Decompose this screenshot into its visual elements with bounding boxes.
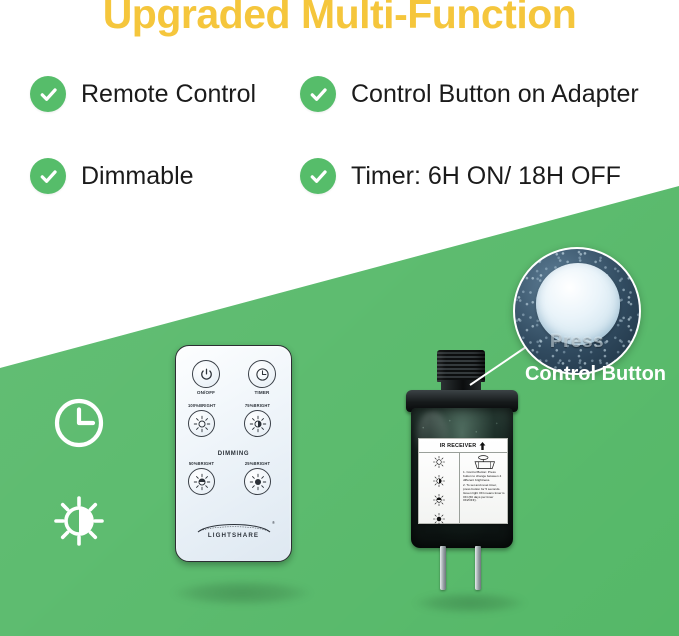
feature-list: Remote Control Control Button on Adapter… bbox=[0, 76, 679, 240]
feature-label: Timer: 6H ON/ 18H OFF bbox=[351, 164, 621, 189]
brightness-25-icon bbox=[432, 512, 446, 531]
infographic-canvas: Upgraded Multi-Function Remote Control C… bbox=[0, 0, 679, 636]
adapter-product: IR RECEIVER bbox=[398, 350, 528, 598]
feature-label: Remote Control bbox=[81, 82, 256, 107]
remote-shadow bbox=[172, 580, 312, 606]
ir-receiver-row: IR RECEIVER bbox=[419, 439, 507, 453]
brand-name: LIGHTSHARE bbox=[208, 532, 259, 539]
arrow-up-icon bbox=[479, 437, 486, 455]
registered-mark-icon: ® bbox=[272, 520, 275, 525]
remote-button-brightness-25[interactable]: 25%BRIGHT bbox=[244, 461, 271, 495]
remote-button-label: TIMER bbox=[254, 390, 269, 395]
control-button-callout: Press bbox=[513, 247, 641, 375]
remote-button-label: 50%BRIGHT bbox=[189, 461, 214, 466]
check-circle-icon bbox=[30, 158, 66, 194]
remote-control-product: ON/OFF TIMER 100%BRIGHT bbox=[175, 345, 292, 562]
magnifier-circle: Press bbox=[513, 247, 641, 375]
clock-icon bbox=[52, 396, 106, 450]
remote-button-label: 25%BRIGHT bbox=[245, 461, 270, 466]
check-circle-icon bbox=[300, 158, 336, 194]
remote-brand-logo: LIGHTSHARE ® bbox=[176, 521, 291, 539]
adapter-instruction-label: IR RECEIVER bbox=[418, 438, 508, 524]
brightness-100-icon bbox=[432, 455, 446, 474]
power-icon bbox=[192, 360, 220, 388]
adapter-plug-prongs bbox=[431, 546, 495, 592]
press-embossed-text: Press bbox=[515, 331, 639, 353]
feature-row: Dimmable Timer: 6H ON/ 18H OFF bbox=[0, 158, 679, 240]
remote-button-label: 75%BRIGHT bbox=[245, 403, 270, 408]
remote-button-label: ON/OFF bbox=[197, 390, 215, 395]
feature-label: Dimmable bbox=[81, 164, 194, 189]
brightness-50-icon bbox=[432, 493, 446, 512]
feature-item-control-button: Control Button on Adapter bbox=[300, 76, 639, 112]
check-circle-icon bbox=[300, 76, 336, 112]
prong-left bbox=[440, 546, 446, 590]
ir-receiver-label: IR RECEIVER bbox=[440, 443, 477, 449]
brightness-100-icon bbox=[188, 410, 215, 437]
remote-button-brightness-100[interactable]: 100%BRIGHT bbox=[188, 403, 216, 437]
feature-label: Control Button on Adapter bbox=[351, 82, 639, 107]
brightness-steps-column bbox=[419, 453, 460, 523]
adapter-note-1: 1. Control Button: Press button to chang… bbox=[463, 471, 505, 482]
callout-label: Control Button bbox=[512, 363, 679, 386]
prong-right bbox=[475, 546, 481, 590]
clock-icon bbox=[248, 360, 276, 388]
remote-button-brightness-75[interactable]: 75%BRIGHT bbox=[244, 403, 271, 437]
adapter-note-2: 2. To set and reset timer, press button … bbox=[463, 484, 505, 503]
check-circle-icon bbox=[30, 76, 66, 112]
remote-button-timer[interactable]: TIMER bbox=[248, 360, 276, 395]
page-title: Upgraded Multi-Function bbox=[0, 0, 679, 38]
brightness-75-icon bbox=[432, 474, 446, 493]
remote-button-label: 100%BRIGHT bbox=[188, 403, 216, 408]
feature-row: Remote Control Control Button on Adapter bbox=[0, 76, 679, 158]
remote-dimming-label: DIMMING bbox=[176, 451, 291, 457]
brightness-50-icon bbox=[188, 468, 215, 495]
brightness-75-icon bbox=[244, 410, 271, 437]
feature-item-remote-control: Remote Control bbox=[30, 76, 256, 112]
side-icon-group bbox=[52, 396, 106, 592]
feature-item-dimmable: Dimmable bbox=[30, 158, 194, 194]
brightness-half-icon bbox=[52, 494, 106, 548]
hand-press-button-icon bbox=[469, 455, 499, 470]
feature-item-timer: Timer: 6H ON/ 18H OFF bbox=[300, 158, 621, 194]
brightness-25-icon bbox=[244, 468, 271, 495]
remote-button-on-off[interactable]: ON/OFF bbox=[192, 360, 220, 395]
remote-button-brightness-50[interactable]: 50%BRIGHT bbox=[188, 461, 215, 495]
